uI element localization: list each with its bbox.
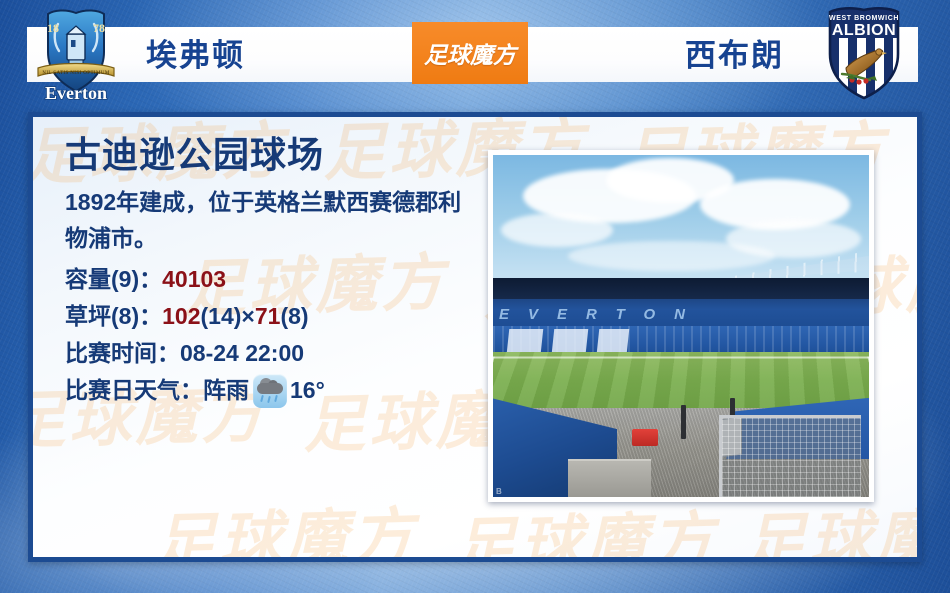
weather-label: 比赛日天气： [65, 372, 203, 409]
capacity-row: 容量(9)： 40103 [65, 261, 485, 298]
pitch-size-label: 草坪(8)： [65, 298, 162, 335]
photo-corner-mark: B [496, 487, 502, 496]
crest-wordmark: Everton [45, 83, 107, 103]
photo-fence [719, 415, 862, 497]
photo-stand-roof [493, 278, 869, 299]
pitch-length-value: 102 [162, 298, 200, 335]
photo-stand-lettering: EVERTON [493, 304, 869, 326]
kickoff-value: 08-24 22:00 [180, 335, 304, 372]
crest-motto: NIL SATIS NISI OPTIMUM [42, 71, 110, 76]
kickoff-label: 比赛时间： [65, 335, 180, 372]
kickoff-row: 比赛时间： 08-24 22:00 [65, 335, 485, 372]
everton-crest: 18 78 NIL SATIS NISI OPTIMUM Everton [28, 4, 124, 104]
pitch-size-separator: × [241, 298, 254, 335]
capacity-value: 40103 [162, 261, 226, 298]
brand-logo-text: 足球魔方 [424, 36, 516, 70]
weather-condition: 阵雨 [203, 372, 249, 409]
weather-temperature: 16° [290, 372, 325, 409]
brand-logo-box[interactable]: 足球魔方 [412, 22, 528, 84]
stadium-title: 古迪逊公园球场 [65, 135, 485, 175]
photo-steps [568, 459, 651, 497]
crest-line-2: ALBION [832, 22, 896, 39]
goodison-park-photo: EVERTON [488, 150, 874, 502]
crest-line-1: WEST BROMWICH [829, 15, 899, 22]
shower-rain-icon [253, 374, 287, 408]
pitch-length-rank: (14) [201, 298, 242, 335]
photo-red-equipment [632, 429, 658, 446]
crest-year-left: 18 [47, 21, 59, 35]
stadium-info-column: 古迪逊公园球场 1892年建成，位于英格兰默西赛德郡利物浦市。 容量(9)： 4… [65, 135, 485, 410]
pitch-width-value: 71 [255, 298, 281, 335]
stadium-info-card: 18 78 NIL SATIS NISI OPTIMUM Everton 埃弗顿… [0, 0, 950, 593]
stadium-description: 1892年建成，位于英格兰默西赛德郡利物浦市。 [65, 185, 465, 256]
away-team-name: 西布朗 [685, 30, 784, 75]
home-team-name: 埃弗顿 [146, 30, 245, 75]
stadium-info-panel: 足球魔方 足球魔方 足球魔方 足球魔方 足球魔方 足球魔方 足球魔方 足球魔方 … [28, 112, 922, 562]
weather-row: 比赛日天气： 阵雨 16° [65, 372, 485, 409]
pitch-size-row: 草坪(8)： 102 (14) × 71 (8) [65, 298, 485, 335]
pitch-width-rank: (8) [280, 298, 308, 335]
crest-year-right: 78 [93, 21, 105, 35]
capacity-label: 容量(9)： [65, 261, 162, 298]
west-bromwich-albion-crest: WEST BROMWICH ALBION [816, 4, 912, 104]
